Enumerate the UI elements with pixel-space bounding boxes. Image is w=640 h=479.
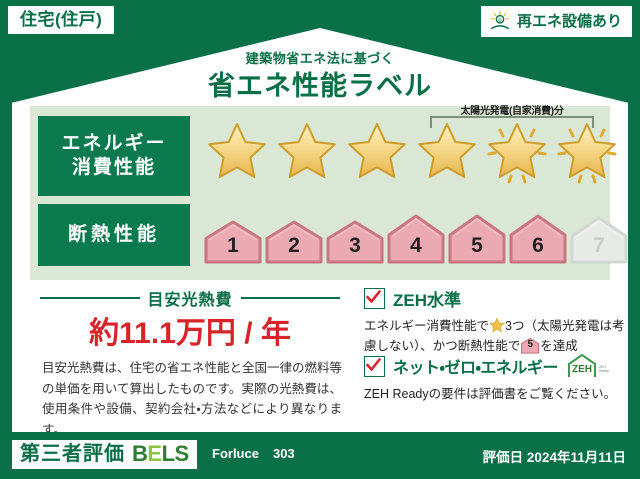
zeh-logo-icon: ZEH ZEH Ready <box>566 353 610 379</box>
svg-text:Ready: Ready <box>599 369 609 373</box>
renewable-energy-badge: D 再エネ設備あり <box>481 6 632 37</box>
label-body: 建築物省エネ法に基づく 省エネ性能ラベル エネルギー 消費性能 太陽光発電(自家… <box>12 28 628 432</box>
zeh-standard-heading: ZEH水準 <box>364 286 636 311</box>
star-5-solar <box>484 120 550 186</box>
sun-icon: D <box>489 11 511 31</box>
page-title: 省エネ性能ラベル <box>12 64 628 103</box>
star-1 <box>204 120 270 186</box>
insulation-rating-area: 1234567 <box>190 204 610 266</box>
star-icon <box>489 317 505 333</box>
star-6-solar <box>554 120 620 186</box>
star-3 <box>344 120 410 186</box>
star-4 <box>414 120 480 186</box>
zeh-standard-title: ZEH水準 <box>393 286 461 311</box>
energy-label-card: 住宅(住戸) D 再エネ設備あり 建築物省エネ法に基づく 省エネ性能ラベル <box>0 0 640 479</box>
project-name: Forluce <box>212 446 259 461</box>
star-2 <box>274 120 340 186</box>
insulation-grade-value: 5 <box>448 234 506 258</box>
insulation-grade-value: 6 <box>509 234 567 258</box>
insulation-grade-value: 2 <box>265 234 323 258</box>
zeh-body-text-1: エネルギー消費性能で <box>364 319 489 333</box>
insulation-grade-value: 3 <box>326 234 384 258</box>
energy-rating-area: 太陽光発電(自家消費)分 <box>190 116 610 196</box>
utility-cost-note: 目安光熱費は、住宅の省エネ性能と全国一律の燃料等の単価を用いて算出したものです。… <box>42 358 342 441</box>
vertical-divider <box>353 286 355 416</box>
insulation-performance-row: 断熱性能 1234567 <box>30 204 610 266</box>
insulation-grade-4: 4 <box>387 214 445 264</box>
insulation-grade-7: 7 <box>570 216 628 264</box>
evaluation-date: 評価日 2024年11月11日 <box>483 446 626 466</box>
zeh-body-text-3: を達成 <box>540 339 578 353</box>
rule-left <box>40 297 140 299</box>
project-info: Forluce303 <box>212 446 295 461</box>
insulation-grade-3: 3 <box>326 220 384 264</box>
bels-letter-ls: LS <box>162 441 189 466</box>
bels-logo: BELS <box>132 443 189 465</box>
insulation-grade-6: 6 <box>509 214 567 264</box>
insulation-grade-value: 4 <box>387 234 445 258</box>
insulation-grade-value: 1 <box>204 234 262 258</box>
insulation-grade-scale: 1234567 <box>204 214 628 264</box>
insulation-grade-value: 7 <box>570 234 628 258</box>
net-zero-energy-block: ネット・ゼロ・エネルギー ZEH ZEH Ready ZEH Readyの要件は… <box>364 353 636 404</box>
net-zero-heading: ネット・ゼロ・エネルギー ZEH ZEH Ready <box>364 353 636 379</box>
svg-text:ZEH: ZEH <box>572 364 592 375</box>
project-number: 303 <box>273 446 295 461</box>
insulation-grade-5: 5 <box>448 214 506 264</box>
net-zero-title: ネット・ゼロ・エネルギー <box>393 354 558 378</box>
insulation-grade-2: 2 <box>265 220 323 264</box>
energy-performance-row: エネルギー 消費性能 太陽光発電(自家消費)分 <box>30 116 610 196</box>
renewable-label: 再エネ設備あり <box>517 14 622 29</box>
zeh-standard-body: エネルギー消費性能で3つ（太陽光発電は考慮しない）、かつ断熱性能で5を達成 <box>364 316 636 356</box>
utility-cost-heading: 目安光熱費 <box>40 286 340 310</box>
checkbox-checked-icon <box>364 288 385 309</box>
insulation-grade-inline-icon: 5 <box>520 337 540 354</box>
third-party-eval-label: 第三者評価 <box>20 444 125 464</box>
utility-cost-value: 約11.1万円 / 年 <box>40 308 340 352</box>
star-rating <box>204 120 620 186</box>
solar-note-label: 太陽光発電(自家消費)分 <box>430 102 594 117</box>
rule-right <box>241 297 341 299</box>
insulation-grade-1: 1 <box>204 220 262 264</box>
checkbox-checked-icon-2 <box>364 356 385 377</box>
house-type-label: 住宅(住戸) <box>20 10 102 29</box>
zeh-standard-block: ZEH水準 エネルギー消費性能で3つ（太陽光発電は考慮しない）、かつ断熱性能で5… <box>364 286 636 356</box>
performance-panel: エネルギー 消費性能 太陽光発電(自家消費)分 断熱性能 1234567 <box>30 106 610 280</box>
bels-letter-b: B <box>132 441 147 466</box>
energy-performance-label: エネルギー 消費性能 <box>38 116 190 196</box>
inline-grade-value: 5 <box>520 337 540 353</box>
insulation-performance-label: 断熱性能 <box>38 204 190 266</box>
bels-badge: 第三者評価 BELS <box>12 440 197 469</box>
utility-cost-title: 目安光熱費 <box>148 286 233 310</box>
net-zero-body: ZEH Readyの要件は評価書をご覧ください。 <box>364 384 636 404</box>
bels-letter-e: E <box>147 441 161 466</box>
house-type-tag: 住宅(住戸) <box>8 6 114 34</box>
footer-bar: 第三者評価 BELS Forluce303 評価日 2024年11月11日 <box>0 432 640 479</box>
